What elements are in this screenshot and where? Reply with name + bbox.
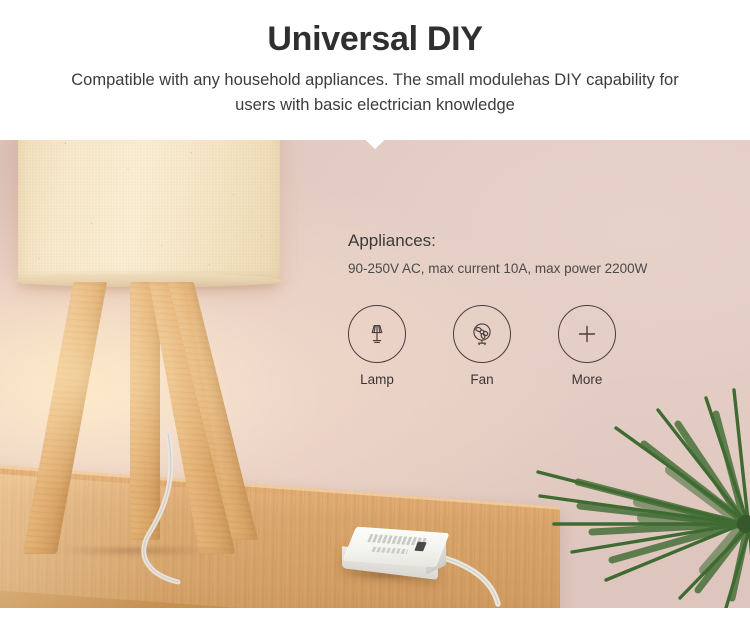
- fan-icon: [467, 319, 497, 349]
- lamp-icon-circle[interactable]: [348, 305, 406, 363]
- lamp-icon: [362, 319, 392, 349]
- lamp-leg-left: [23, 282, 107, 554]
- page-title: Universal DIY: [0, 0, 750, 60]
- appliance-icon-row: Lamp: [348, 305, 720, 389]
- appliances-panel: Appliances: 90-250V AC, max current 10A,…: [348, 229, 720, 389]
- table-lamp: [4, 134, 294, 554]
- smart-switch-module: [342, 530, 450, 582]
- module-top-face: [342, 527, 449, 568]
- more-icon-circle[interactable]: [558, 305, 616, 363]
- header-subtitle: Compatible with any household appliances…: [55, 68, 695, 118]
- appliance-label-fan: Fan: [453, 371, 511, 389]
- appliance-item-lamp[interactable]: Lamp: [348, 305, 406, 389]
- appliance-item-more[interactable]: More: [558, 305, 616, 389]
- product-feature-banner: Universal DIY Compatible with any househ…: [0, 0, 750, 621]
- header-notch-triangle: [355, 130, 395, 149]
- fan-icon-circle[interactable]: [453, 305, 511, 363]
- bottom-white-strip: [0, 608, 750, 621]
- lamp-shade-texture: [18, 134, 280, 284]
- product-photo-scene: Appliances: 90-250V AC, max current 10A,…: [0, 134, 750, 608]
- plus-icon: [572, 319, 602, 349]
- appliance-label-lamp: Lamp: [348, 371, 406, 389]
- appliance-label-more: More: [558, 371, 616, 389]
- lamp-foot-shadow: [44, 548, 230, 558]
- header-section: Universal DIY Compatible with any househ…: [0, 0, 750, 140]
- appliances-spec: 90-250V AC, max current 10A, max power 2…: [348, 259, 720, 279]
- appliance-item-fan[interactable]: Fan: [453, 305, 511, 389]
- appliances-title: Appliances:: [348, 229, 720, 253]
